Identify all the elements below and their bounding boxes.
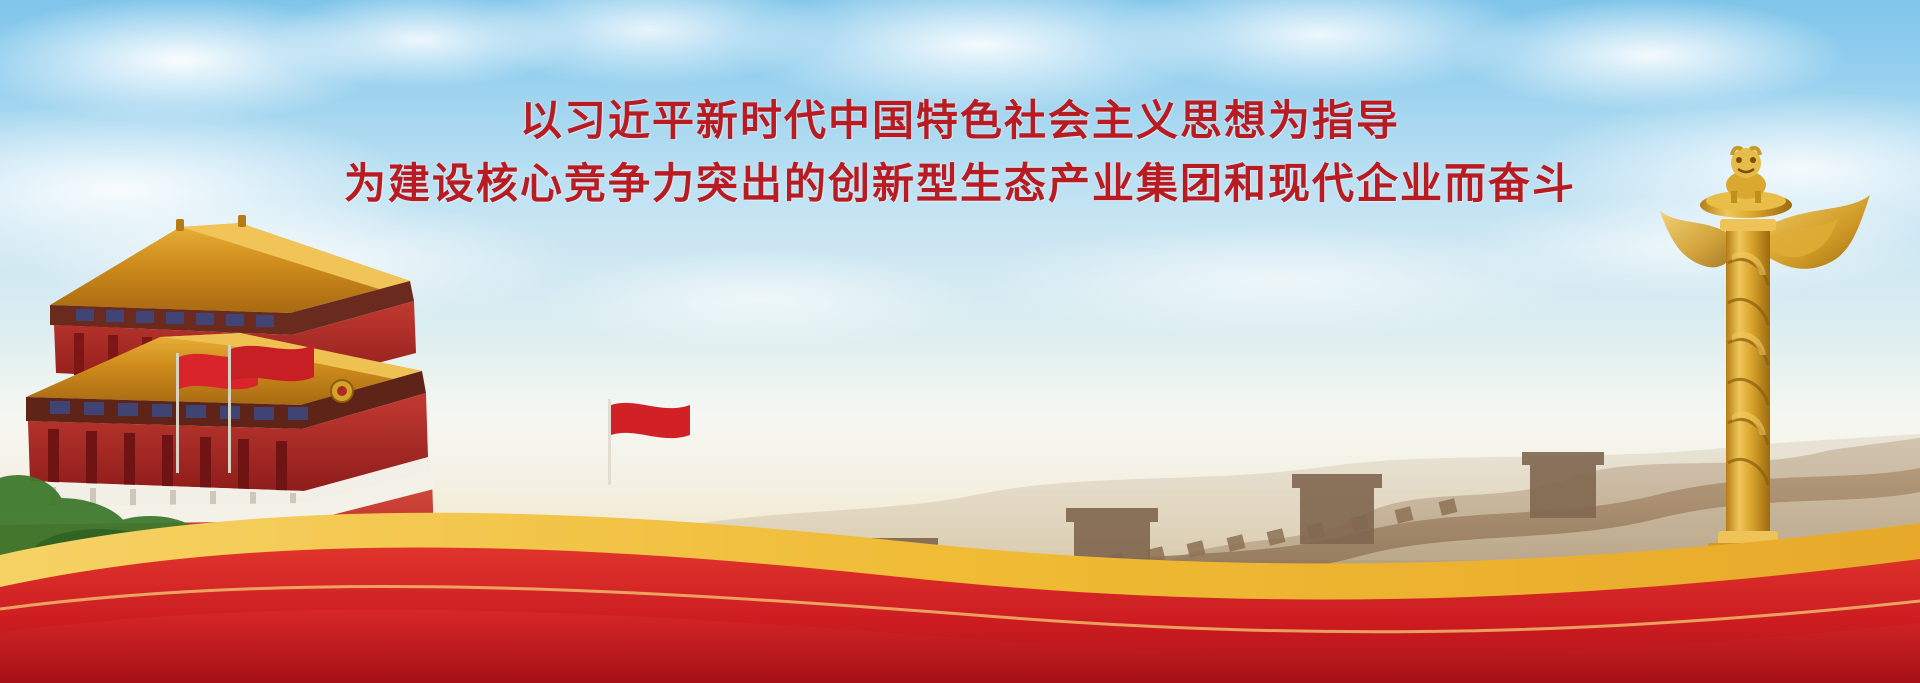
red-flag-icon [600, 395, 710, 485]
title-line-2: 为建设核心竞争力突出的创新型生态产业集团和现代企业而奋斗 [0, 158, 1920, 209]
title-line-1: 以习近平新时代中国特色社会主义思想为指导 [0, 95, 1920, 146]
red-ribbon-icon [0, 483, 1920, 683]
banner-title: 以习近平新时代中国特色社会主义思想为指导 为建设核心竞争力突出的创新型生态产业集… [0, 95, 1920, 209]
patriotic-banner: 中华人民共和国万岁 世界人民大团结万岁 [0, 0, 1920, 683]
